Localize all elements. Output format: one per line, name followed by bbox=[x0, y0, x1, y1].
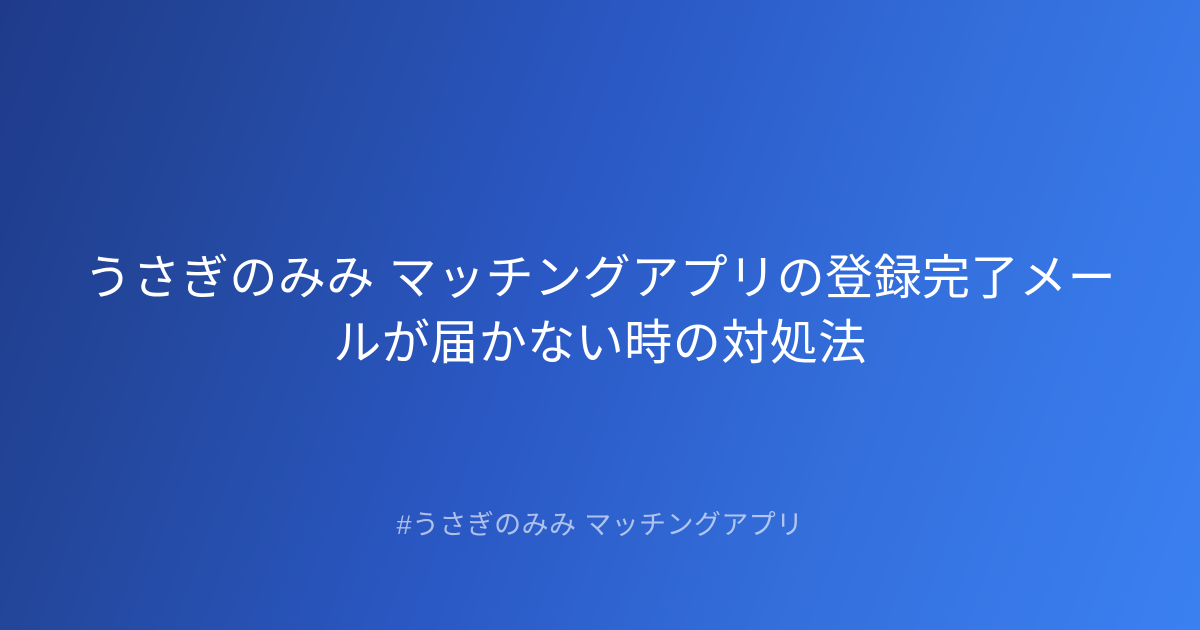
hashtag-label: #うさぎのみみ マッチングアプリ bbox=[397, 506, 804, 544]
tagline-block: #うさぎのみみ マッチングアプリ bbox=[0, 506, 1200, 544]
title-block: うさぎのみみ マッチングアプリの登録完了メールが届かない時の対処法 bbox=[0, 246, 1200, 376]
og-image-card: うさぎのみみ マッチングアプリの登録完了メールが届かない時の対処法 #うさぎのみ… bbox=[0, 0, 1200, 630]
page-title: うさぎのみみ マッチングアプリの登録完了メールが届かない時の対処法 bbox=[60, 246, 1140, 376]
